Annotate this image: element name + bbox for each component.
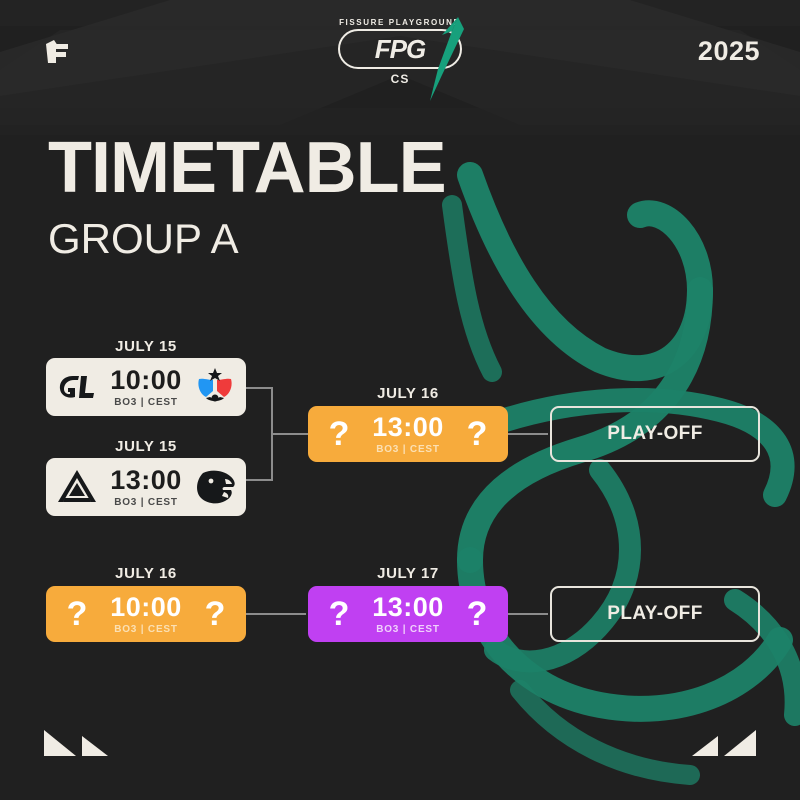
match-date-4: JULY 16 xyxy=(46,565,246,582)
logo-wordmark: FPG xyxy=(338,29,462,69)
placeholder-icon: ? xyxy=(467,417,488,451)
match-date-1: JULY 15 xyxy=(46,338,246,355)
logo-pill-wrap: FPG xyxy=(338,29,462,69)
timetable-poster: 2025 FISSURE PLAYGROUND FPG CS TIMETABLE… xyxy=(0,0,800,800)
match-info-5: 13:00 BO3 | CEST xyxy=(370,594,446,635)
match-meta-3: BO3 | CEST xyxy=(376,444,440,455)
team-slot-right-1 xyxy=(184,358,246,416)
match-meta-2: BO3 | CEST xyxy=(114,497,178,508)
triangle-peak-logo xyxy=(56,468,98,506)
team-slot-left-5: ? xyxy=(308,586,370,642)
playoff-box-lower[interactable]: PLAY-OFF xyxy=(550,586,760,642)
match-meta-1: BO3 | CEST xyxy=(114,397,178,408)
placeholder-icon: ? xyxy=(205,597,226,631)
panther-head-logo xyxy=(191,467,239,507)
year-label: 2025 xyxy=(698,36,760,67)
match-meta-5: BO3 | CEST xyxy=(376,624,440,635)
team-slot-right-3: ? xyxy=(446,406,508,462)
playoff-box-upper[interactable]: PLAY-OFF xyxy=(550,406,760,462)
match-time-4: 10:00 xyxy=(110,594,182,621)
match-time-3: 13:00 xyxy=(372,414,444,441)
match-time-1: 10:00 xyxy=(110,367,182,394)
page-title: TIMETABLE xyxy=(48,132,446,204)
gl-monogram-logo xyxy=(56,372,98,402)
match-card-2[interactable]: 13:00 BO3 | CEST xyxy=(46,458,246,516)
crown-star-logo xyxy=(193,367,237,407)
fpg-logo: FISSURE PLAYGROUND FPG CS xyxy=(305,18,495,86)
match-card-1[interactable]: 10:00 BO3 | CEST xyxy=(46,358,246,416)
bracket-area: JULY 15 10:00 BO3 | CEST xyxy=(0,0,800,800)
match-info-1: 10:00 BO3 | CEST xyxy=(108,367,184,408)
match-date-2: JULY 15 xyxy=(46,438,246,455)
corner-mark-bottom-left xyxy=(42,722,110,758)
corner-mark-bottom-right xyxy=(690,722,758,758)
logo-game-label: CS xyxy=(305,72,495,86)
team-slot-left-2 xyxy=(46,458,108,516)
logo-top-text: FISSURE PLAYGROUND xyxy=(305,18,495,27)
team-slot-right-4: ? xyxy=(184,586,246,642)
match-info-2: 13:00 BO3 | CEST xyxy=(108,467,184,508)
team-slot-left-4: ? xyxy=(46,586,108,642)
page-subtitle: GROUP A xyxy=(48,218,446,260)
title-block: TIMETABLE GROUP A xyxy=(48,132,446,260)
match-card-3[interactable]: ? 13:00 BO3 | CEST ? xyxy=(308,406,508,462)
match-meta-4: BO3 | CEST xyxy=(114,624,178,635)
poster-header: 2025 FISSURE PLAYGROUND FPG CS xyxy=(0,0,800,118)
fpg-monogram-icon xyxy=(42,38,76,66)
match-time-5: 13:00 xyxy=(372,594,444,621)
match-card-5[interactable]: ? 13:00 BO3 | CEST ? xyxy=(308,586,508,642)
match-info-3: 13:00 BO3 | CEST xyxy=(370,414,446,455)
placeholder-icon: ? xyxy=(467,597,488,631)
match-time-2: 13:00 xyxy=(110,467,182,494)
team-slot-left-1 xyxy=(46,358,108,416)
placeholder-icon: ? xyxy=(329,597,350,631)
placeholder-icon: ? xyxy=(67,597,88,631)
match-date-3: JULY 16 xyxy=(308,385,508,402)
team-slot-right-5: ? xyxy=(446,586,508,642)
team-slot-right-2 xyxy=(184,458,246,516)
match-card-4[interactable]: ? 10:00 BO3 | CEST ? xyxy=(46,586,246,642)
match-date-5: JULY 17 xyxy=(308,565,508,582)
team-slot-left-3: ? xyxy=(308,406,370,462)
placeholder-icon: ? xyxy=(329,417,350,451)
match-info-4: 10:00 BO3 | CEST xyxy=(108,594,184,635)
